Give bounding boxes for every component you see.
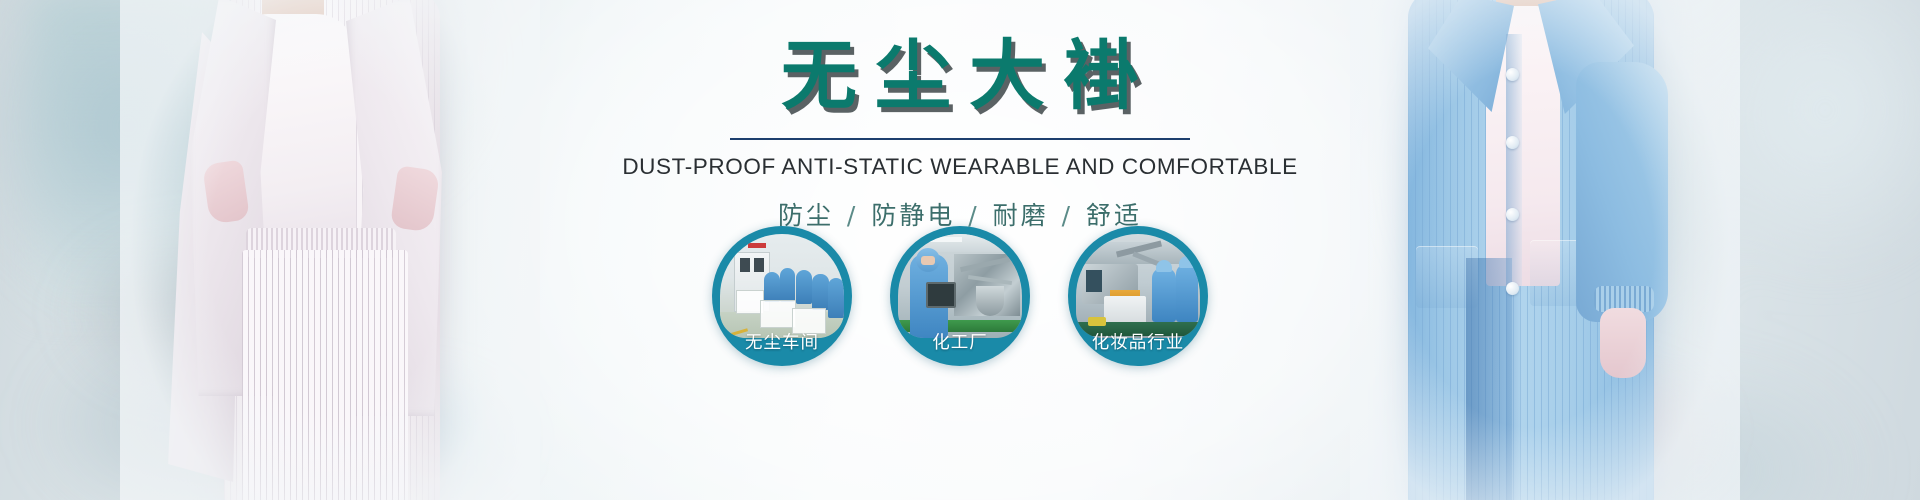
photo-worker — [764, 272, 780, 302]
photo-worker — [828, 278, 844, 318]
product-banner: 无尘大褂 DUST-PROOF ANTI-STATIC WEARABLE AND… — [0, 0, 1920, 500]
photo-worker — [780, 268, 795, 302]
badge-chemical-plant[interactable]: 化工厂 — [890, 226, 1030, 366]
photo-worker-cap — [1179, 256, 1195, 268]
photo-worker-cap — [1156, 260, 1172, 272]
model-right-sleeve — [1576, 62, 1668, 322]
photo-tank — [976, 286, 1004, 316]
banner-subtitle-english: DUST-PROOF ANTI-STATIC WEARABLE AND COMF… — [510, 154, 1410, 180]
photo-handheld-tool — [1088, 317, 1106, 326]
photo-worker — [812, 274, 829, 310]
banner-headline: 无尘大褂 — [510, 0, 1410, 114]
chemical-plant-photo — [898, 234, 1022, 338]
badge-label-cosmetics-industry: 化妆品行业 — [1068, 329, 1208, 354]
badge-cleanroom-workshop[interactable]: 无尘车间 — [712, 226, 852, 366]
headline-divider-rule — [730, 138, 1190, 140]
badge-cosmetics-industry[interactable]: 化妆品行业 — [1068, 226, 1208, 366]
model-left-trousers — [242, 250, 408, 500]
photo-control-panel — [1086, 270, 1102, 292]
badge-label-cleanroom-workshop: 无尘车间 — [712, 329, 852, 354]
application-badge-group: 无尘车间 化工厂 — [510, 226, 1410, 366]
model-right-button-placket — [1506, 34, 1522, 500]
photo-door-window — [754, 258, 764, 272]
photo-crate — [760, 300, 796, 328]
photo-worker — [1176, 264, 1198, 322]
photo-worker — [796, 270, 812, 304]
photo-worker — [1152, 268, 1176, 322]
photo-ceiling-light — [922, 237, 962, 242]
model-right-button — [1506, 208, 1519, 221]
photo-door-window — [740, 258, 750, 272]
photo-exit-sign — [748, 243, 766, 248]
cosmetics-industry-photo — [1076, 234, 1200, 338]
model-right-glove — [1600, 308, 1646, 378]
photo-worker-face — [921, 256, 935, 265]
banner-content: 无尘大褂 DUST-PROOF ANTI-STATIC WEARABLE AND… — [510, 0, 1410, 500]
badge-label-chemical-plant: 化工厂 — [890, 329, 1030, 354]
white-cleanroom-coat-model — [150, 0, 510, 500]
blue-esd-lab-coat-model — [1380, 0, 1710, 500]
model-right-button — [1506, 68, 1519, 81]
model-right-button — [1506, 282, 1519, 295]
model-right-pocket-left — [1416, 246, 1478, 308]
cleanroom-workshop-photo — [720, 234, 844, 338]
photo-tablet-device — [926, 282, 956, 308]
model-right-button — [1506, 136, 1519, 149]
